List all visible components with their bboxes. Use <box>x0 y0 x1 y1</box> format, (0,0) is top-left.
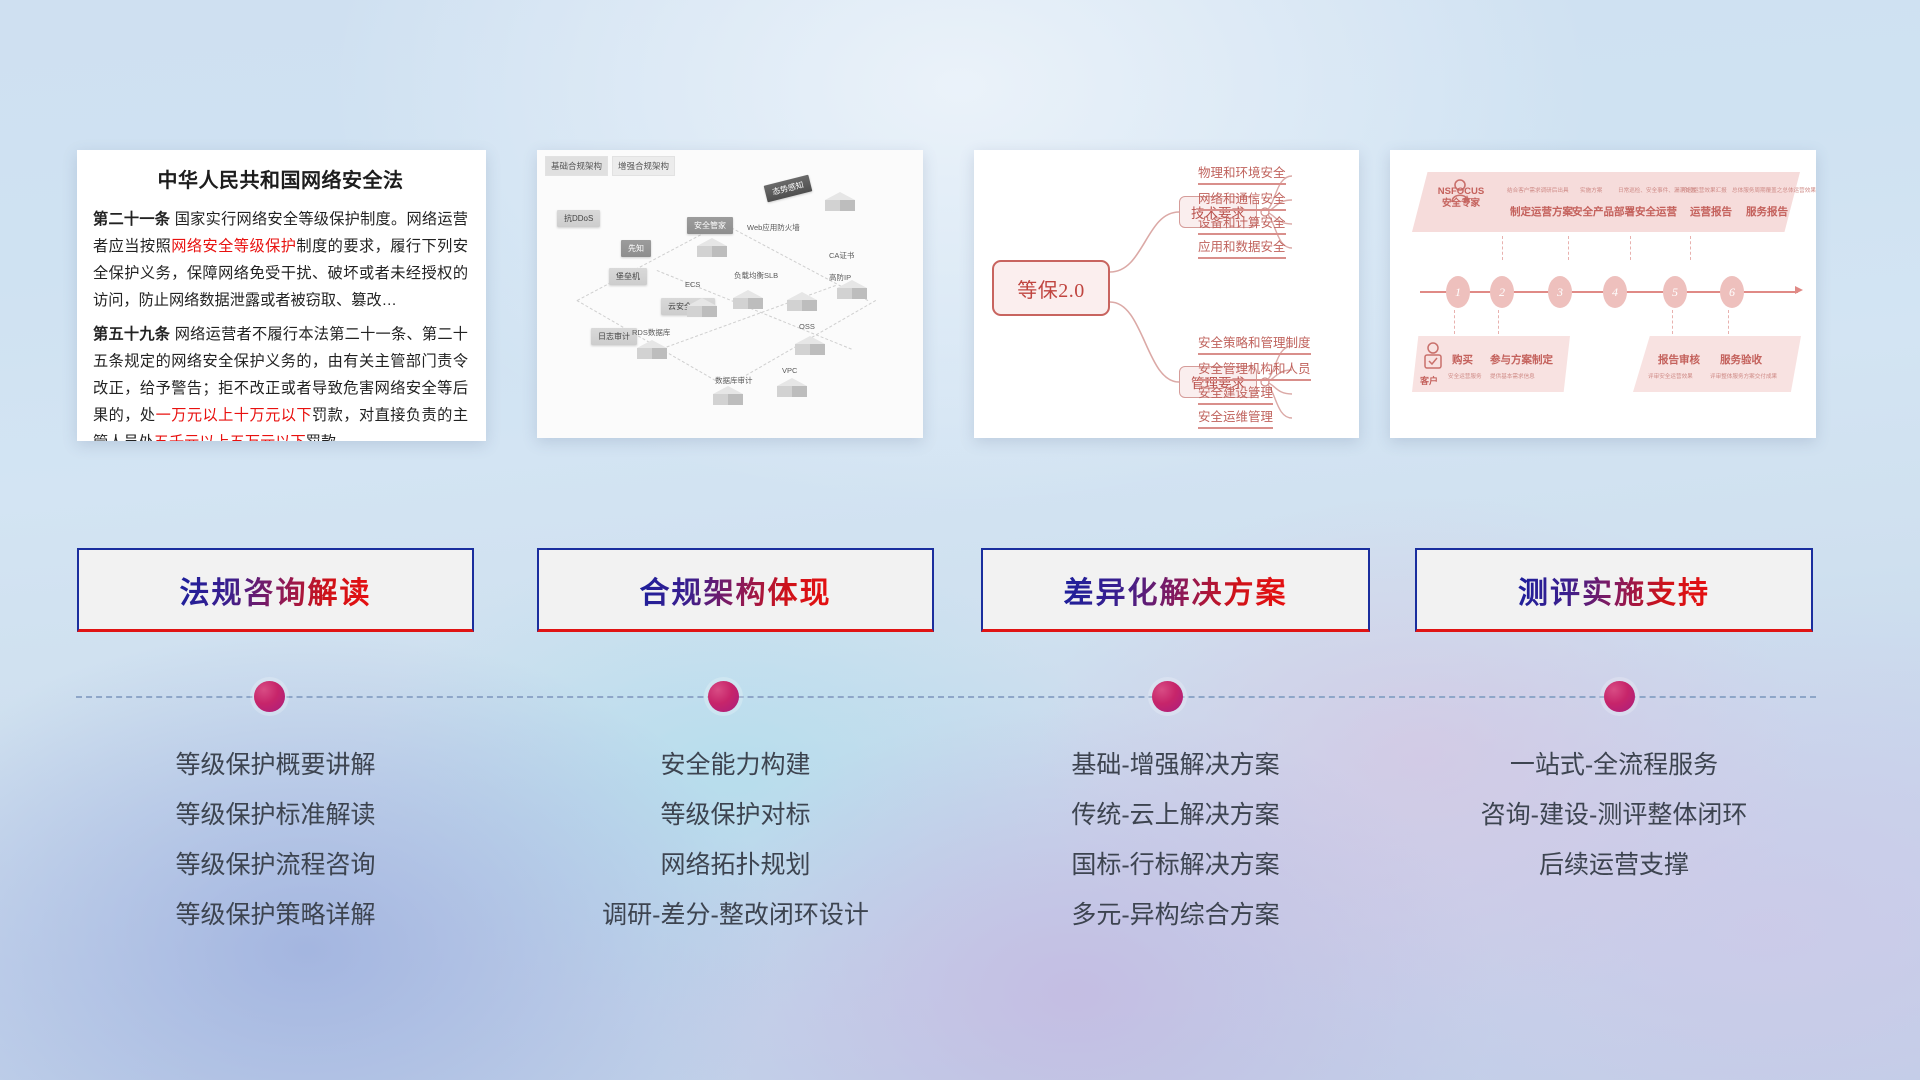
list-item: 传统-云上解决方案 <box>981 790 1370 840</box>
node-log-audit: 日志审计 <box>591 328 637 345</box>
card-compliance-architecture[interactable]: 基础合规架构 增强合规架构 态势感知 安全管家 先知 堡垒机 日志审计 云安全中… <box>537 150 923 438</box>
title-box-differentiated-solution[interactable]: 差异化解决方案 <box>981 548 1370 632</box>
list-item: 安全能力构建 <box>537 740 934 790</box>
card-mindmap-dengbao[interactable]: 等保2.0 技术要求 管理要求 物理和环境安全 网络和通信安全 设备和计算安全 … <box>974 150 1359 438</box>
nsfocus-brand: NSFOCUS 安全专家 <box>1430 186 1492 210</box>
card-cybersecurity-law[interactable]: 中华人民共和国网络安全法 第二十一条 国家实行网络安全等级保护制度。网络运营者应… <box>77 150 486 441</box>
title-box-label: 合规架构体现 <box>640 568 832 612</box>
tab-enhanced-architecture[interactable]: 增强合规架构 <box>612 156 675 176</box>
label-ecs: ECS <box>685 280 700 289</box>
article-21-label: 第二十一条 <box>93 211 170 228</box>
title-box-regulation-consulting[interactable]: 法规咨询解读 <box>77 548 474 632</box>
architecture-diagram: 基础合规架构 增强合规架构 态势感知 安全管家 先知 堡垒机 日志审计 云安全中… <box>537 150 923 438</box>
progress-axis <box>76 696 1816 698</box>
database-cube-icon <box>637 340 667 362</box>
label-slb: 负载均衡SLB <box>734 270 778 281</box>
device-cube-icon <box>837 280 867 302</box>
title-box-label: 法规咨询解读 <box>180 568 372 612</box>
timeline-step-label: 安全运营 <box>1635 204 1677 219</box>
mindmap-leaf: 安全运维管理 <box>1198 406 1273 429</box>
tab-basic-architecture[interactable]: 基础合规架构 <box>545 156 608 176</box>
server-cube-icon <box>787 292 817 314</box>
list-item: 基础-增强解决方案 <box>981 740 1370 790</box>
feature-list-regulation-consulting: 等级保护概要讲解 等级保护标准解读 等级保护流程咨询 等级保护策略详解 <box>77 740 474 940</box>
timeline-node: 4 <box>1603 276 1627 308</box>
storage-cube-icon <box>795 336 825 358</box>
axis-node-1 <box>254 681 285 712</box>
mindmap-center-node: 等保2.0 <box>992 260 1110 316</box>
timeline-step-sub: 结合客户需求调研后出具 <box>1507 186 1569 194</box>
list-item: 等级保护概要讲解 <box>77 740 474 790</box>
timeline-node: 5 <box>1663 276 1687 308</box>
article-59-text-3: 罚款。 <box>306 434 352 441</box>
article-59-highlight-2: 五千元以上五万元以下 <box>154 434 306 441</box>
list-item: 国标-行标解决方案 <box>981 840 1370 890</box>
list-item: 咨询-建设-测评整体闭环 <box>1415 790 1813 840</box>
list-item: 调研-差分-整改闭环设计 <box>537 890 934 940</box>
list-item: 等级保护策略详解 <box>77 890 474 940</box>
mindmap-leaf: 网络和通信安全 <box>1198 188 1286 211</box>
law-document: 中华人民共和国网络安全法 第二十一条 国家实行网络安全等级保护制度。网络运营者应… <box>77 150 486 441</box>
timeline-bottom-label: 报告审核 <box>1658 352 1700 367</box>
label-ca-cert: CA证书 <box>829 250 854 261</box>
axis-node-3 <box>1152 681 1183 712</box>
timeline-connector <box>1498 310 1499 334</box>
audit-cube-icon <box>713 386 743 408</box>
node-bastion-host: 堡垒机 <box>609 268 647 285</box>
node-situational-awareness: 态势感知 <box>764 175 813 203</box>
customer-icon <box>1420 342 1446 372</box>
timeline-step-label: 运营报告 <box>1690 204 1732 219</box>
list-item: 多元-异构综合方案 <box>981 890 1370 940</box>
list-item: 等级保护流程咨询 <box>77 840 474 890</box>
server-cube-icon <box>733 290 763 312</box>
mindmap-leaf: 设备和计算安全 <box>1198 212 1286 235</box>
article-21-highlight: 网络安全等级保护 <box>171 238 296 255</box>
mindmap: 等保2.0 技术要求 管理要求 物理和环境安全 网络和通信安全 设备和计算安全 … <box>974 150 1359 438</box>
timeline-connector <box>1672 310 1673 334</box>
mindmap-leaf: 安全建设管理 <box>1198 382 1273 405</box>
law-article-21: 第二十一条 国家实行网络安全等级保护制度。网络运营者应当按照网络安全等级保护制度… <box>93 206 468 314</box>
law-title: 中华人民共和国网络安全法 <box>93 164 468 193</box>
timeline-connector <box>1454 310 1455 334</box>
timeline-step-sub: 实施方案 <box>1580 186 1602 194</box>
list-item: 等级保护对标 <box>537 790 934 840</box>
vpc-cube-icon <box>777 378 807 400</box>
node-xianzhi: 先知 <box>621 240 651 257</box>
list-item: 网络拓扑规划 <box>537 840 934 890</box>
timeline-node: 6 <box>1720 276 1744 308</box>
service-timeline: NSFOCUS 安全专家 结合客户需求调研后出具 制定运营方案 实施方案 安全产… <box>1390 150 1816 438</box>
label-waf: Web应用防火墙 <box>747 222 800 233</box>
feature-list-evaluation-support: 一站式-全流程服务 咨询-建设-测评整体闭环 后续运营支撑 <box>1415 740 1813 890</box>
timeline-node: 1 <box>1446 276 1470 308</box>
feature-list-differentiated-solution: 基础-增强解决方案 传统-云上解决方案 国标-行标解决方案 多元-异构综合方案 <box>981 740 1370 940</box>
nsfocus-brand-sub: 安全专家 <box>1430 198 1492 210</box>
node-security-butler: 安全管家 <box>687 217 733 234</box>
timeline-connector <box>1728 310 1729 334</box>
list-item: 后续运营支撑 <box>1415 840 1813 890</box>
feature-list-compliance-architecture: 安全能力构建 等级保护对标 网络拓扑规划 调研-差分-整改闭环设计 <box>537 740 934 940</box>
timeline-bottom-sub: 安全运营服务 <box>1448 372 1482 380</box>
device-cube-icon <box>697 238 727 260</box>
title-box-label: 测评实施支持 <box>1518 568 1710 612</box>
timeline-bottom-sub: 提供基本需求信息 <box>1490 372 1535 380</box>
mindmap-leaf: 物理和环境安全 <box>1198 162 1286 185</box>
article-59-label: 第五十九条 <box>93 326 170 343</box>
mindmap-leaf: 应用和数据安全 <box>1198 236 1286 259</box>
customer-label: 客户 <box>1420 374 1438 387</box>
label-rds: RDS数据库 <box>632 327 670 338</box>
axis-node-4 <box>1604 681 1635 712</box>
title-box-compliance-architecture[interactable]: 合规架构体现 <box>537 548 934 632</box>
timeline-step-sub: 总体服务周期覆盖之总体运营效果 <box>1732 186 1816 194</box>
timeline-step-label: 安全产品部署 <box>1572 204 1635 219</box>
timeline-bottom-sub: 评审整体服务方案交付成果 <box>1710 372 1777 380</box>
timeline-step-label: 制定运营方案 <box>1510 204 1573 219</box>
article-59-highlight-1: 一万元以上十万元以下 <box>156 407 312 424</box>
nsfocus-brand-name: NSFOCUS <box>1430 186 1492 198</box>
timeline-node: 2 <box>1490 276 1514 308</box>
node-anti-ddos: 抗DDoS <box>557 210 600 227</box>
mindmap-leaf: 安全管理机构和人员 <box>1198 358 1311 381</box>
timeline-step-label: 服务报告 <box>1746 204 1788 219</box>
law-article-59: 第五十九条 网络运营者不履行本法第二十一条、第二十五条规定的网络安全保护义务的，… <box>93 321 468 441</box>
timeline-arrow-icon <box>1795 286 1803 294</box>
timeline-connector <box>1502 236 1503 260</box>
label-db-audit: 数据库审计 <box>715 375 753 386</box>
architecture-tabs[interactable]: 基础合规架构 增强合规架构 <box>545 156 675 176</box>
label-vpc: VPC <box>782 366 797 375</box>
device-cube-icon <box>825 192 855 214</box>
timeline-bottom-label: 服务验收 <box>1720 352 1762 367</box>
card-service-timeline[interactable]: NSFOCUS 安全专家 结合客户需求调研后出具 制定运营方案 实施方案 安全产… <box>1390 150 1816 438</box>
label-oss: OSS <box>799 322 815 331</box>
timeline-bottom-label: 购买 <box>1452 352 1473 367</box>
timeline-bottom-sub: 评审安全运营效果 <box>1648 372 1693 380</box>
timeline-connector <box>1690 236 1691 260</box>
timeline-connector <box>1568 236 1569 260</box>
timeline-step-sub: 阶段运营效果汇报 <box>1682 186 1727 194</box>
timeline-connector <box>1630 236 1631 260</box>
title-box-evaluation-support[interactable]: 测评实施支持 <box>1415 548 1813 632</box>
title-box-label: 差异化解决方案 <box>1064 568 1288 612</box>
mindmap-leaf: 安全策略和管理制度 <box>1198 332 1311 355</box>
timeline-node: 3 <box>1548 276 1572 308</box>
list-item: 一站式-全流程服务 <box>1415 740 1813 790</box>
timeline-bottom-label: 参与方案制定 <box>1490 352 1553 367</box>
server-cube-icon <box>687 298 717 320</box>
top-cards-row: 中华人民共和国网络安全法 第二十一条 国家实行网络安全等级保护制度。网络运营者应… <box>0 150 1920 440</box>
list-item: 等级保护标准解读 <box>77 790 474 840</box>
axis-node-2 <box>708 681 739 712</box>
